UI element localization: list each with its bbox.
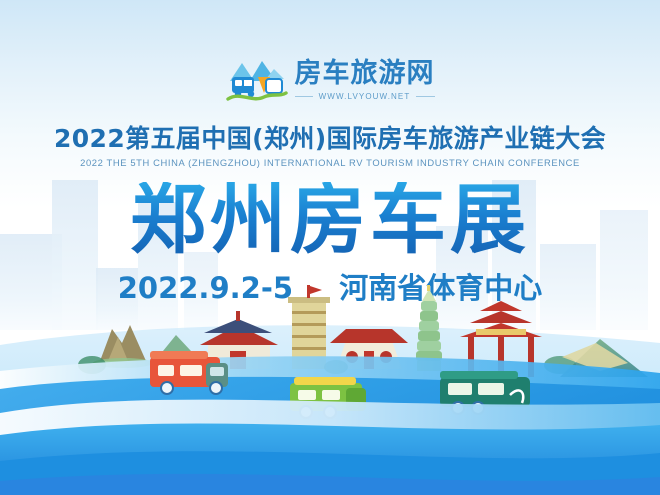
- brand-url-row: WWW.LVYOUW.NET: [295, 92, 435, 101]
- rule-left: [295, 96, 313, 97]
- poster-canvas: 房车旅游网 WWW.LVYOUW.NET 2022第五届中国(郑州)国际房车旅游…: [0, 0, 660, 495]
- brand-url: WWW.LVYOUW.NET: [319, 92, 411, 101]
- brand-text-block: 房车旅游网 WWW.LVYOUW.NET: [295, 60, 435, 101]
- illustration-scene: [0, 285, 660, 495]
- event-title-en: 2022 THE 5TH CHINA (ZHENGZHOU) INTERNATI…: [0, 157, 660, 168]
- page-title: 郑州房车展: [0, 182, 660, 258]
- brand-name: 房车旅游网: [295, 60, 435, 87]
- event-title-cn: 2022第五届中国(郑州)国际房车旅游产业链大会: [0, 126, 660, 151]
- brand-logo-row[interactable]: 房车旅游网 WWW.LVYOUW.NET: [0, 52, 660, 108]
- rule-right: [416, 96, 434, 97]
- rv-camper-mountain-icon: [226, 55, 288, 105]
